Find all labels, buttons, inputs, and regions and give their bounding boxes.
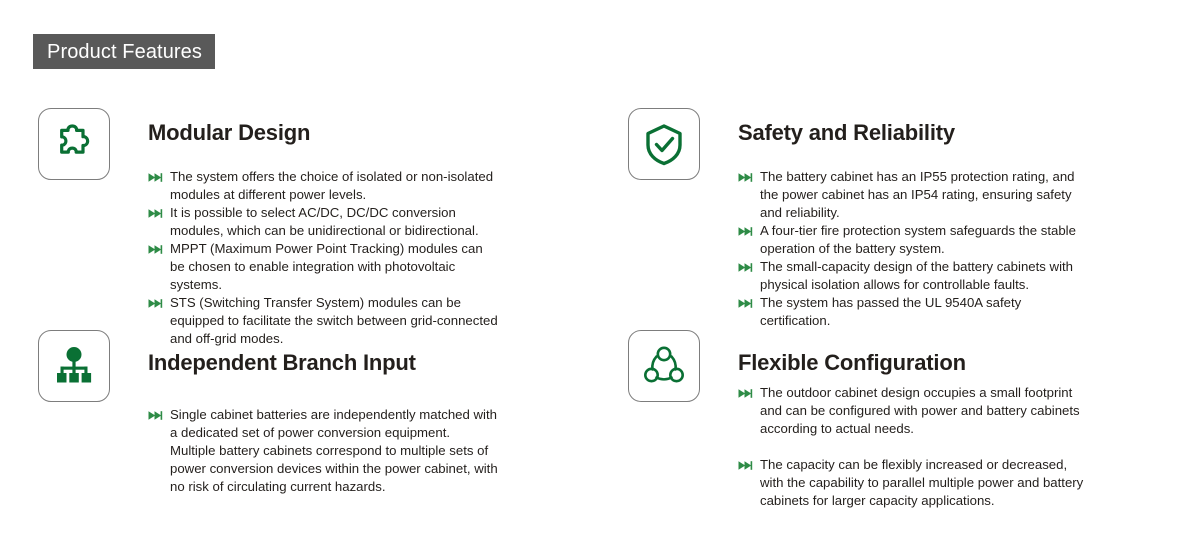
list-item: It is possible to select AC/DC, DC/DC co… [148, 204, 498, 240]
list-item-text: It is possible to select AC/DC, DC/DC co… [170, 205, 479, 238]
list-item-text: The capacity can be flexibly increased o… [760, 457, 1083, 508]
feature-icon-box [38, 330, 110, 402]
feature-title: Independent Branch Input [148, 350, 498, 376]
list-item-text: MPPT (Maximum Power Point Tracking) modu… [170, 241, 483, 292]
list-item: The system has passed the UL 9540A safet… [738, 294, 1086, 330]
puzzle-piece-icon [52, 122, 96, 166]
list-item: MPPT (Maximum Power Point Tracking) modu… [148, 240, 498, 294]
page-title: Product Features [47, 42, 202, 62]
list-item-text: The small-capacity design of the battery… [760, 259, 1073, 292]
feature-body: Flexible Configuration The outdoor cabin… [738, 350, 1086, 510]
double-arrow-bullet-icon [148, 298, 163, 309]
shield-check-icon [643, 122, 685, 166]
double-arrow-bullet-icon [738, 388, 753, 399]
list-item: The outdoor cabinet design occupies a sm… [738, 384, 1086, 438]
list-item-text: The system offers the choice of isolated… [170, 169, 493, 202]
list-item: A four-tier fire protection system safeg… [738, 222, 1086, 258]
section-badge: Product Features [33, 34, 215, 69]
list-item-text: STS (Switching Transfer System) modules … [170, 295, 498, 346]
double-arrow-bullet-icon [738, 460, 753, 471]
feature-title: Flexible Configuration [738, 350, 1086, 376]
feature-body: Safety and Reliability The battery cabin… [738, 120, 1086, 330]
double-arrow-bullet-icon [148, 244, 163, 255]
feature-icon-box [628, 108, 700, 180]
list-item: The capacity can be flexibly increased o… [738, 456, 1086, 510]
network-nodes-icon [643, 345, 685, 387]
list-item-text: The outdoor cabinet design occupies a sm… [760, 385, 1080, 436]
list-item-text: A four-tier fire protection system safeg… [760, 223, 1076, 256]
feature-bullet-list: The system offers the choice of isolated… [148, 168, 498, 348]
double-arrow-bullet-icon [148, 172, 163, 183]
feature-bullet-list: Single cabinet batteries are independent… [148, 406, 498, 496]
list-item-text: Single cabinet batteries are independent… [170, 407, 498, 494]
double-arrow-bullet-icon [148, 410, 163, 421]
feature-title: Safety and Reliability [738, 120, 1086, 146]
feature-bullet-list: The battery cabinet has an IP55 protecti… [738, 168, 1086, 330]
list-item: The system offers the choice of isolated… [148, 168, 498, 204]
double-arrow-bullet-icon [738, 172, 753, 183]
list-item: The battery cabinet has an IP55 protecti… [738, 168, 1086, 222]
list-item: Single cabinet batteries are independent… [148, 406, 498, 496]
feature-title: Modular Design [148, 120, 498, 146]
list-item: The small-capacity design of the battery… [738, 258, 1086, 294]
list-item: STS (Switching Transfer System) modules … [148, 294, 498, 348]
double-arrow-bullet-icon [738, 226, 753, 237]
double-arrow-bullet-icon [738, 262, 753, 273]
feature-icon-box [38, 108, 110, 180]
double-arrow-bullet-icon [738, 298, 753, 309]
feature-body: Modular Design The system offers the cho… [148, 120, 498, 348]
feature-bullet-list: The outdoor cabinet design occupies a sm… [738, 384, 1086, 510]
hierarchy-tree-icon [52, 345, 96, 387]
feature-body: Independent Branch Input Single cabinet … [148, 350, 498, 496]
list-item-text: The system has passed the UL 9540A safet… [760, 295, 1021, 328]
feature-icon-box [628, 330, 700, 402]
list-item-text: The battery cabinet has an IP55 protecti… [760, 169, 1075, 220]
double-arrow-bullet-icon [148, 208, 163, 219]
